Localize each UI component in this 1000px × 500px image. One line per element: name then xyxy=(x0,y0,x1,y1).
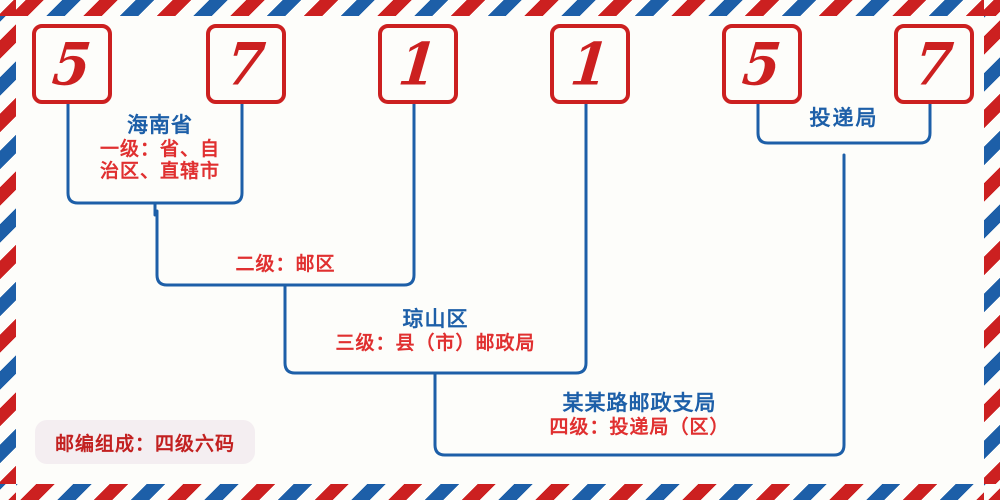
footer-badge: 邮编组成：四级六码 xyxy=(35,420,255,464)
digit-box-3[interactable]: 1 xyxy=(378,24,458,104)
label-level-1-title: 海南省 xyxy=(78,113,242,138)
label-level-1-sub-line1: 一级：省、自 xyxy=(78,138,242,160)
label-level-4: 某某路邮政支局 四级：投递局（区） xyxy=(435,391,844,438)
footer-badge-text: 邮编组成：四级六码 xyxy=(55,429,235,456)
digit-box-6[interactable]: 7 xyxy=(894,24,974,104)
digit-glyph-3: 1 xyxy=(396,35,440,93)
digit-box-1[interactable]: 5 xyxy=(32,24,112,104)
label-level-4-title: 某某路邮政支局 xyxy=(435,391,844,416)
digit-glyph-1: 5 xyxy=(50,35,94,93)
digit-box-4[interactable]: 1 xyxy=(550,24,630,104)
label-delivery-office-title: 投递局 xyxy=(758,106,930,131)
label-level-2-sub-line1: 二级：邮区 xyxy=(157,253,414,275)
label-level-3: 琼山区 三级：县（市）邮政局 xyxy=(285,307,586,354)
digit-box-2[interactable]: 7 xyxy=(206,24,286,104)
digit-glyph-4: 1 xyxy=(568,35,612,93)
digit-glyph-6: 7 xyxy=(912,35,956,93)
label-level-3-sub-line1: 三级：县（市）邮政局 xyxy=(285,332,586,354)
postcode-structure-diagram: 5 7 1 1 5 7 海南省 一级：省、自 治区、直辖市 投递局 二级：邮区 … xyxy=(0,0,1000,500)
digit-glyph-2: 7 xyxy=(224,35,268,93)
digit-box-5[interactable]: 5 xyxy=(722,24,802,104)
label-level-3-title: 琼山区 xyxy=(285,307,586,332)
label-level-1: 海南省 一级：省、自 治区、直辖市 xyxy=(78,113,242,183)
label-level-2: 二级：邮区 xyxy=(157,253,414,275)
label-level-1-sub-line2: 治区、直辖市 xyxy=(78,160,242,182)
digit-glyph-5: 5 xyxy=(740,35,784,93)
label-level-4-sub-line1: 四级：投递局（区） xyxy=(435,416,844,438)
label-delivery-office: 投递局 xyxy=(758,106,930,131)
